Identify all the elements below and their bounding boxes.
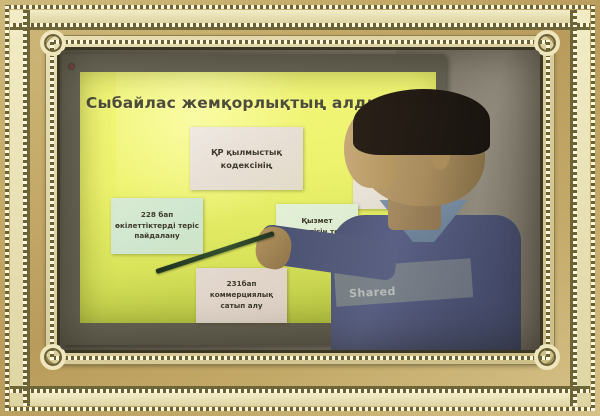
slide-box-kodeks: ҚР қылмыстық кодексінің <box>190 127 303 190</box>
slide-box-article-311: 311 бап пара алу <box>353 162 432 209</box>
board-power-indicator-icon <box>69 64 74 69</box>
projected-slide: Сыбайлас жемқорлықтың алдын алу ҚР қылмы… <box>80 72 436 323</box>
slide-title: Сыбайлас жемқорлықтың алдын алу <box>80 94 436 112</box>
slide-box-kyzmet: Қызмет өкілеттігін теріс пайдалану <box>276 204 358 260</box>
slide-box-article-228: 228 бап өкілеттіктерді теріс пайдалану <box>111 198 203 254</box>
whiteboard: Сыбайлас жемқорлықтың алдын алу ҚР қылмы… <box>62 54 446 345</box>
slide-box-article-231: 231бап коммерциялық сатып алу <box>196 268 287 323</box>
photo-scene: Сыбайлас жемқорлықтың алдын алу ҚР қылмы… <box>60 50 540 350</box>
slide-box-bilik: бап билікті қызметт <box>342 265 437 317</box>
framed-photo: Сыбайлас жемқорлықтың алдын алу ҚР қылмы… <box>0 0 600 416</box>
